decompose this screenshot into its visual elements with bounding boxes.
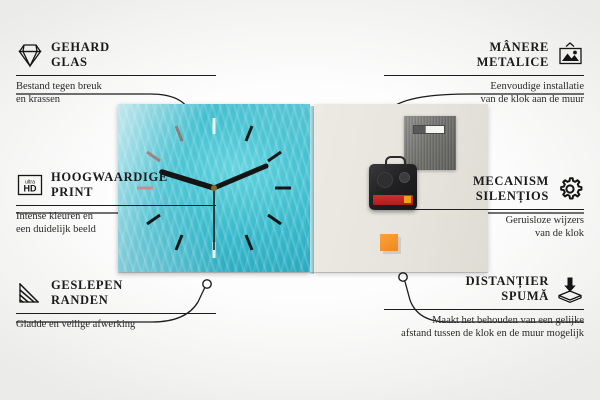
feature-title: MECANISM SILENȚIOS [473, 174, 549, 204]
feature-description: Gladde en veilige afwerking [16, 318, 216, 331]
metal-hanger-plate [404, 116, 456, 170]
clock-minute-hand [214, 166, 266, 188]
feature-distantier-spuma: DISTANȚIER SPUMĂ Maakt het behouden van … [384, 272, 584, 341]
gear-icon [556, 175, 584, 203]
feature-title: GEHARD GLAS [51, 40, 110, 70]
mechanism-hanger-loop [385, 156, 406, 168]
feature-divider [384, 309, 584, 310]
feature-description: Bestand tegen breuk en krassen [16, 80, 216, 107]
product-feature-infographic: GEHARD GLAS Bestand tegen breuk en krass… [0, 0, 600, 400]
feature-header: GEHARD GLAS [16, 38, 216, 72]
feature-divider [16, 205, 216, 206]
feature-header: MÂNERE METALICE [384, 38, 584, 72]
feature-divider [16, 75, 216, 76]
diamond-icon [16, 41, 44, 69]
feature-header: ultra HD HOOGWAARDIGE PRINT [16, 168, 216, 202]
feature-title: MÂNERE METALICE [477, 40, 549, 70]
feature-header: DISTANȚIER SPUMĂ [384, 272, 584, 306]
feature-manere-metalice: MÂNERE METALICE Eenvoudige installatie v… [384, 38, 584, 107]
spacer-press-icon [556, 275, 584, 303]
feature-description: Maakt het behouden van een gelijke afsta… [384, 314, 584, 341]
feature-header: GESLEPEN RANDEN [16, 276, 216, 310]
feature-divider [384, 209, 584, 210]
ultra-hd-icon: ultra HD [16, 171, 44, 199]
feature-divider [384, 75, 584, 76]
feature-description: Eenvoudige installatie van de klok aan d… [384, 80, 584, 107]
feature-mecanism-silentios: MECANISM SILENȚIOS Geruisloze wijzers va… [384, 172, 584, 241]
svg-text:HD: HD [24, 184, 37, 194]
feature-divider [16, 313, 216, 314]
feature-hoogwaardige-print: ultra HD HOOGWAARDIGE PRINT Intense kleu… [16, 168, 216, 237]
hanger-slot [413, 125, 445, 134]
feature-geslepen-randen: GESLEPEN RANDEN Gladde en veilige afwerk… [16, 276, 216, 331]
beveled-edges-icon [16, 279, 44, 307]
feature-gehard-glas: GEHARD GLAS Bestand tegen breuk en krass… [16, 38, 216, 107]
feature-title: GESLEPEN RANDEN [51, 278, 123, 308]
feature-description: Geruisloze wijzers van de klok [384, 214, 584, 241]
picture-hook-icon [556, 41, 584, 69]
feature-header: MECANISM SILENȚIOS [384, 172, 584, 206]
feature-description: Intense kleuren en een duidelijk beeld [16, 210, 216, 237]
feature-title: HOOGWAARDIGE PRINT [51, 170, 168, 200]
feature-title: DISTANȚIER SPUMĂ [466, 274, 549, 304]
